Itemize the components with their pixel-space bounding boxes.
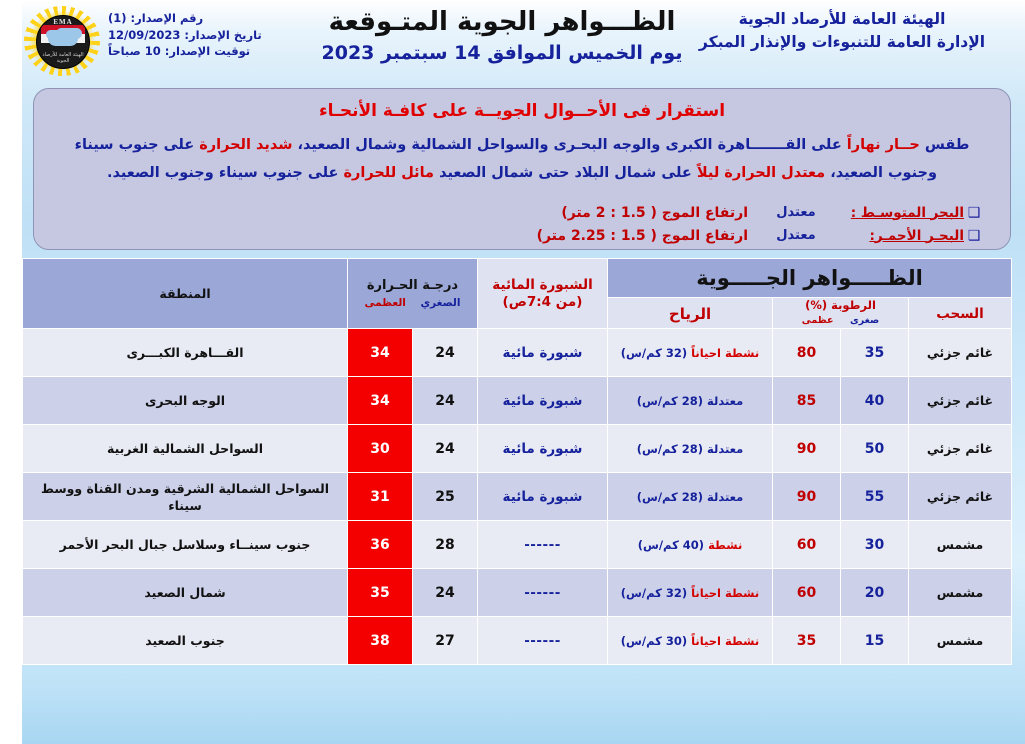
sea-wave-mediterranean: ارتفاع الموج ( 1.5 : 2 متر) [561, 205, 748, 221]
ema-logo: EMA الهيئة العامة للأرصاد الجوية [22, 4, 102, 78]
col-header-humidity-subs: صغرى عظمى [773, 314, 908, 328]
cell-wind: نشطة احياناً (32 كم/س) [608, 329, 773, 377]
summary-line-2: وجنوب الصعيد، معتدل الحرارة ليلاً على شم… [56, 159, 988, 187]
cell-cloud: غائم جزئي [909, 473, 1012, 521]
cell-temp-min: 27 [413, 617, 478, 665]
cell-temp-max: 35 [348, 569, 413, 617]
page-title: الظـــواهر الجوية المتـوقعة [302, 6, 702, 38]
table-row: غائم جزئي4085معتدلة (28 كم/س)شبورة مائية… [23, 377, 1012, 425]
table-row: غائم جزئي5590معتدلة (28 كم/س)شبورة مائية… [23, 473, 1012, 521]
summary-l1-d: شديد الحرارة [199, 137, 292, 153]
summary-l2-b: معتدل الحرارة ليلاً [697, 165, 825, 181]
summary-l2-c: على شمال البلاد حتى شمال الصعيد [434, 165, 697, 181]
summary-l1-b: حــار نهاراً [847, 137, 920, 153]
col-header-humidity-min: صغرى [850, 315, 879, 326]
col-header-temperature: درجـة الحـرارة الصغري العظمى [348, 259, 478, 329]
cell-cloud: مشمس [909, 569, 1012, 617]
summary-body: طقس حــار نهاراً على القـــــــاهرة الكب… [34, 131, 1010, 187]
cell-region: جنوب الصعيد [23, 617, 348, 665]
cloud-icon [48, 31, 78, 46]
col-header-wind-label: الرياح [669, 305, 711, 323]
col-header-temp-min: الصغري [421, 297, 461, 309]
cell-cloud: غائم جزئي [909, 329, 1012, 377]
col-header-humidity: الرطوبة (%) صغرى عظمى [773, 298, 909, 329]
summary-l1-c: على القـــــــاهرة الكبرى والوجه البحـرى… [292, 137, 846, 153]
cell-wind: نشطة (40 كم/س) [608, 521, 773, 569]
sea-name-mediterranean: البحر المتوسـط : [844, 205, 964, 221]
cell-region: السواحل الشمالية الغربية [23, 425, 348, 473]
cell-fog: ------ [478, 521, 608, 569]
sea-conditions: ❑ البحر المتوسـط : معتدل ارتفاع الموج ( … [34, 201, 1010, 247]
org-line-1: الهيئة العامة للأرصاد الجوية [677, 8, 1007, 31]
col-header-fog: الشبورة المائية (من 7:4ص) [478, 259, 608, 329]
group-header-phenomena: الظـــــواهر الجـــــوية [608, 259, 1012, 298]
cell-humidity-min: 15 [841, 617, 909, 665]
summary-l2-d: مائل للحرارة [343, 165, 434, 181]
cell-wind: معتدلة (28 كم/س) [608, 425, 773, 473]
table-body: غائم جزئي3580نشطة احياناً (32 كم/س)شبورة… [23, 329, 1012, 665]
cell-humidity-max: 35 [773, 617, 841, 665]
table-row: مشمس2060نشطة احياناً (32 كم/س)------2435… [23, 569, 1012, 617]
issue-time: توقيت الإصدار: 10 صباحاً [108, 43, 288, 60]
cell-fog: ------ [478, 569, 608, 617]
sea-state-mediterranean: معتدل [748, 205, 844, 220]
cell-cloud: مشمس [909, 617, 1012, 665]
cell-region: جنوب سينــاء وسلاسل جبال البحر الأحمر [23, 521, 348, 569]
summary-l1-e: على جنوب سيناء [75, 137, 200, 153]
table-row: غائم جزئي3580نشطة احياناً (32 كم/س)شبورة… [23, 329, 1012, 377]
col-header-temp-label: درجـة الحـرارة [348, 278, 477, 293]
cell-temp-max: 38 [348, 617, 413, 665]
cell-temp-min: 25 [413, 473, 478, 521]
cell-fog: شبورة مائية [478, 329, 608, 377]
summary-panel: استقرار فى الأحــوال الجويــة على كافـة … [33, 88, 1011, 250]
col-header-cloud: السحب [909, 298, 1012, 329]
cell-wind: نشطة احياناً (30 كم/س) [608, 617, 773, 665]
cell-temp-min: 24 [413, 569, 478, 617]
col-header-humidity-label: الرطوبة (%) [773, 298, 908, 312]
sea-state-red-sea: معتدل [748, 228, 844, 243]
summary-headline: استقرار فى الأحــوال الجويــة على كافـة … [34, 101, 1010, 121]
issue-number: رقم الإصدار: (1) [108, 10, 288, 27]
cell-temp-max: 34 [348, 329, 413, 377]
col-header-region: المنطقة [23, 259, 348, 329]
cell-temp-min: 24 [413, 329, 478, 377]
organization-name: الهيئة العامة للأرصاد الجوية الإدارة الع… [677, 8, 1007, 54]
humidity-sub-wrap: صغرى عظمى [773, 314, 908, 328]
cell-wind: معتدلة (28 كم/س) [608, 377, 773, 425]
summary-l1-a: طقس [920, 137, 970, 153]
col-header-temp-sub: الصغري العظمى [348, 297, 477, 309]
cell-temp-max: 31 [348, 473, 413, 521]
cell-wind: نشطة احياناً (32 كم/س) [608, 569, 773, 617]
cell-humidity-max: 85 [773, 377, 841, 425]
cell-region: الوجه البحرى [23, 377, 348, 425]
col-header-temp-max: العظمى [365, 297, 406, 309]
sea-row-red-sea: ❑ البحـر الأحمـر: معتدل ارتفاع الموج ( 1… [60, 224, 984, 247]
cell-temp-min: 24 [413, 377, 478, 425]
col-header-cloud-label: السحب [936, 306, 983, 322]
logo-initials: EMA [37, 18, 89, 26]
issue-date: تاريخ الإصدار: 12/09/2023 [108, 27, 288, 44]
summary-l2-a: وجنوب الصعيد، [825, 165, 937, 181]
logo-badge: EMA الهيئة العامة للأرصاد الجوية [36, 15, 90, 69]
table-row: غائم جزئي5090معتدلة (28 كم/س)شبورة مائية… [23, 425, 1012, 473]
summary-l2-e: على جنوب سيناء وجنوب الصعيد. [107, 165, 343, 181]
cell-region: القـــاهرة الكبـــرى [23, 329, 348, 377]
col-header-fog-label: الشبورة المائية [478, 277, 607, 294]
cell-wind: معتدلة (28 كم/س) [608, 473, 773, 521]
cell-region: السواحل الشمالية الشرقية ومدن القناة ووس… [23, 473, 348, 521]
cell-humidity-min: 40 [841, 377, 909, 425]
title-block: الظـــواهر الجوية المتـوقعة يوم الخميس ا… [302, 6, 702, 66]
cell-humidity-max: 60 [773, 569, 841, 617]
cell-cloud: غائم جزئي [909, 425, 1012, 473]
col-header-fog-sub: (من 7:4ص) [478, 294, 607, 311]
col-header-humidity-max: عظمى [802, 315, 834, 326]
cell-humidity-max: 60 [773, 521, 841, 569]
cell-cloud: مشمس [909, 521, 1012, 569]
cell-temp-max: 30 [348, 425, 413, 473]
cell-humidity-min: 20 [841, 569, 909, 617]
cell-humidity-max: 80 [773, 329, 841, 377]
cell-temp-max: 34 [348, 377, 413, 425]
sea-wave-red-sea: ارتفاع الموج ( 1.5 : 2.25 متر) [537, 228, 748, 244]
cell-region: شمال الصعيد [23, 569, 348, 617]
cell-humidity-min: 50 [841, 425, 909, 473]
table-head: الظـــــواهر الجـــــوية الشبورة المائية… [23, 259, 1012, 329]
cell-humidity-min: 35 [841, 329, 909, 377]
table-header-row-1: الظـــــواهر الجـــــوية الشبورة المائية… [23, 259, 1012, 298]
checkbox-icon: ❑ [964, 229, 984, 243]
summary-line-1: طقس حــار نهاراً على القـــــــاهرة الكب… [56, 131, 988, 159]
table-row: مشمس1535نشطة احياناً (30 كم/س)------2738… [23, 617, 1012, 665]
forecast-table: الظـــــواهر الجـــــوية الشبورة المائية… [22, 258, 1012, 665]
cell-temp-min: 24 [413, 425, 478, 473]
cell-humidity-max: 90 [773, 473, 841, 521]
page-subtitle: يوم الخميس الموافق 14 سبتمبر 2023 [302, 40, 702, 66]
checkbox-icon: ❑ [964, 206, 984, 220]
sea-row-mediterranean: ❑ البحر المتوسـط : معتدل ارتفاع الموج ( … [60, 201, 984, 224]
cell-cloud: غائم جزئي [909, 377, 1012, 425]
issue-info: رقم الإصدار: (1) تاريخ الإصدار: 12/09/20… [108, 10, 288, 60]
cell-fog: ------ [478, 617, 608, 665]
forecast-page: EMA الهيئة العامة للأرصاد الجوية رقم الإ… [0, 0, 1025, 744]
logo-arc-text: الهيئة العامة للأرصاد الجوية [37, 52, 89, 64]
cell-fog: شبورة مائية [478, 377, 608, 425]
cell-temp-min: 28 [413, 521, 478, 569]
page-header: EMA الهيئة العامة للأرصاد الجوية رقم الإ… [0, 0, 1025, 82]
col-header-wind: الرياح [608, 298, 773, 329]
sea-name-red-sea: البحـر الأحمـر: [844, 228, 964, 244]
cell-humidity-min: 30 [841, 521, 909, 569]
cell-fog: شبورة مائية [478, 473, 608, 521]
cell-humidity-max: 90 [773, 425, 841, 473]
cell-temp-max: 36 [348, 521, 413, 569]
cell-fog: شبورة مائية [478, 425, 608, 473]
org-line-2: الإدارة العامة للتنبوءات والإنذار المبكر [677, 31, 1007, 54]
table-row: مشمس3060نشطة (40 كم/س)------2836جنوب سين… [23, 521, 1012, 569]
cell-humidity-min: 55 [841, 473, 909, 521]
